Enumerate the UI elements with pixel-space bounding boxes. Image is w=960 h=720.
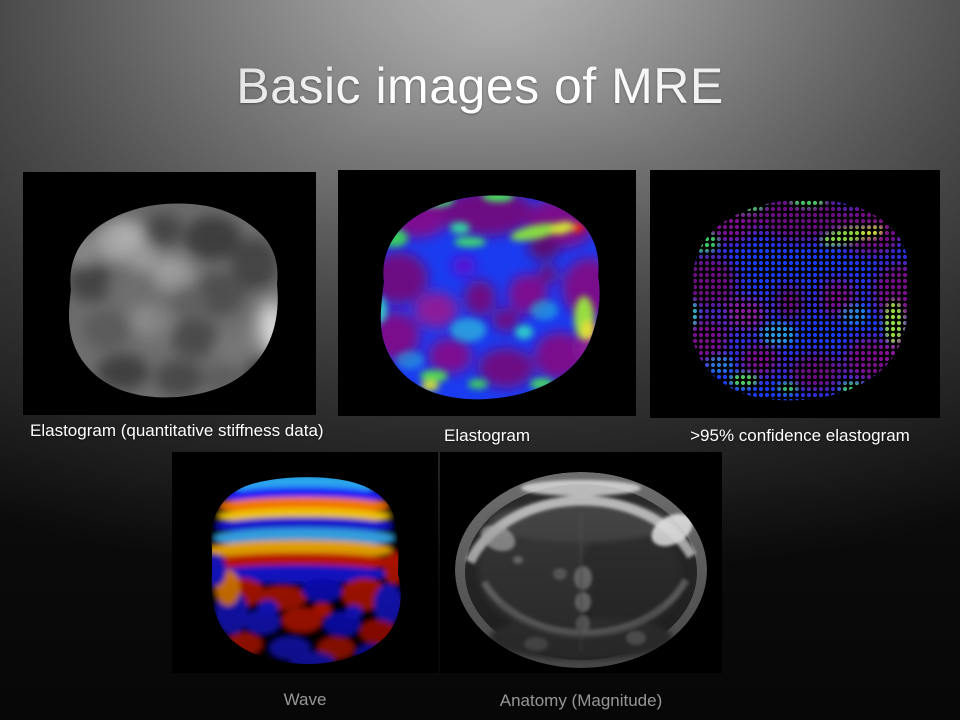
panel-elastogram-color[interactable] bbox=[338, 170, 636, 416]
panel-elastogram-grayscale[interactable] bbox=[23, 172, 316, 415]
caption-anatomy: Anatomy (Magnitude) bbox=[440, 689, 722, 712]
anatomy-magnitude-image bbox=[440, 452, 722, 673]
caption-wave: Wave bbox=[172, 688, 438, 711]
confidence-elastogram-image bbox=[650, 170, 940, 418]
slide-canvas: Basic images of MRE bbox=[0, 0, 960, 720]
elastogram-grayscale-image bbox=[23, 172, 316, 415]
elastogram-color-image bbox=[338, 170, 636, 416]
panel-wave[interactable] bbox=[172, 452, 438, 673]
page-title: Basic images of MRE bbox=[0, 57, 960, 115]
caption-confidence-elastogram: >95% confidence elastogram bbox=[650, 424, 950, 447]
caption-elastogram-color: Elastogram bbox=[338, 424, 636, 447]
wave-image bbox=[172, 452, 438, 673]
caption-elastogram-grayscale: Elastogram (quantitative stiffness data) bbox=[30, 419, 330, 442]
panel-confidence-elastogram[interactable] bbox=[650, 170, 940, 418]
panel-anatomy-magnitude[interactable] bbox=[440, 452, 722, 673]
